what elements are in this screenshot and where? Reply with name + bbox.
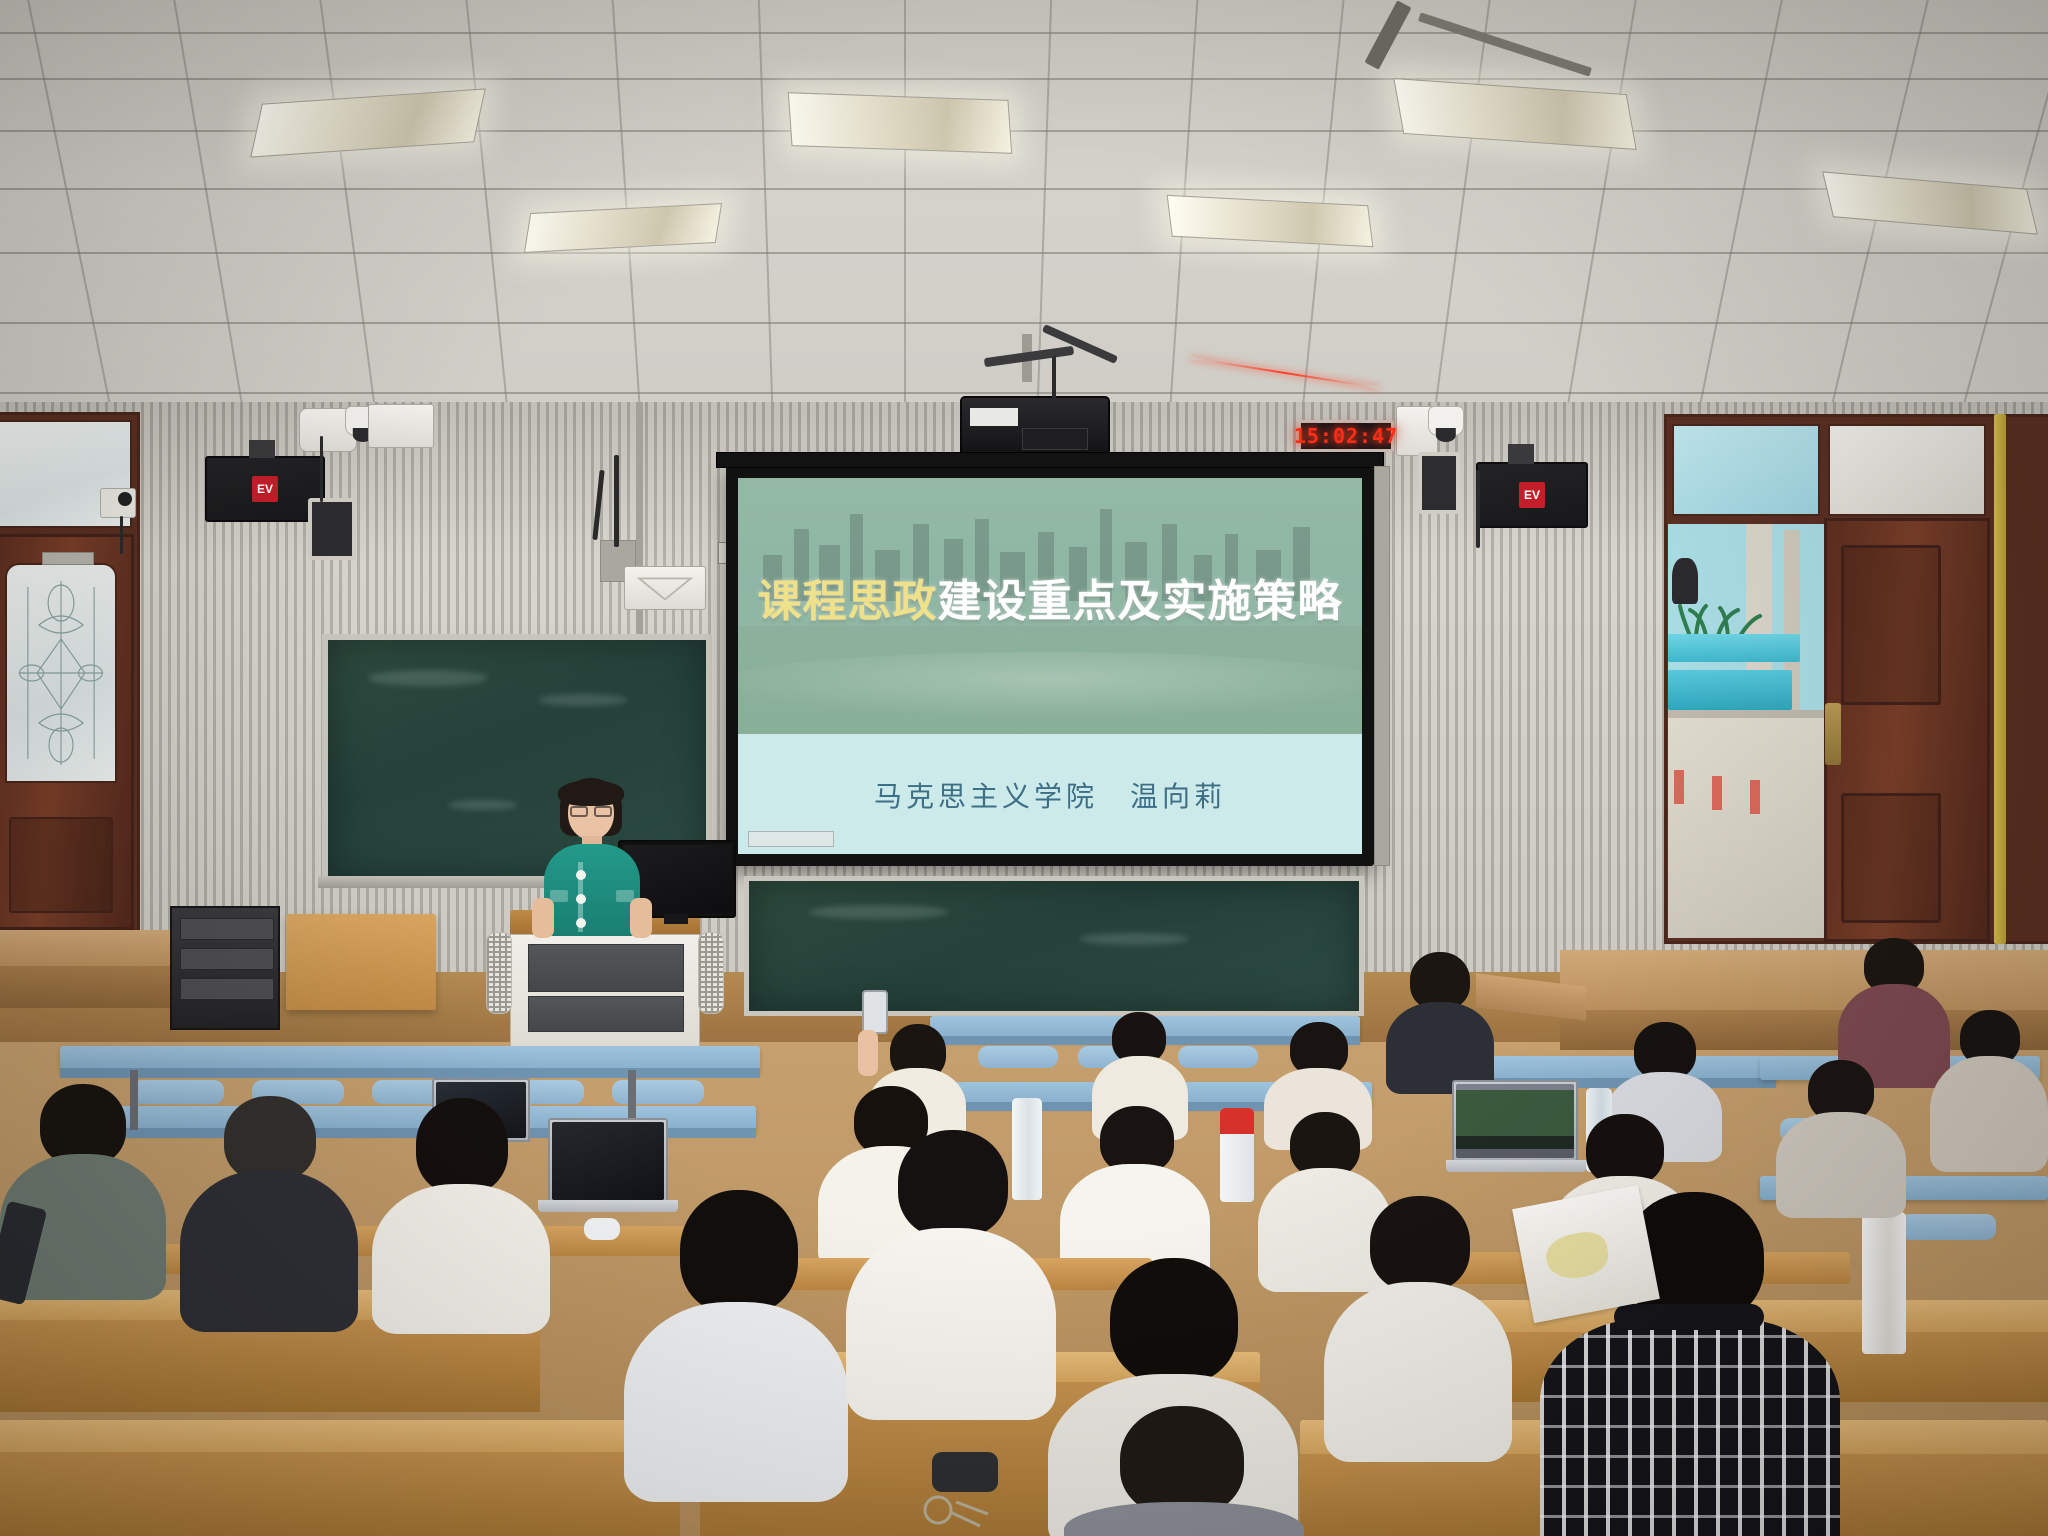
wooden-desk-front <box>0 1452 680 1536</box>
power-cable <box>614 455 619 547</box>
lectern-speaker-vent-left <box>486 932 512 1014</box>
equipment-rack <box>170 906 280 1030</box>
projector-label <box>970 408 1018 426</box>
screen-roller-housing <box>716 452 1384 468</box>
camera-cable <box>120 516 123 554</box>
presenter-button <box>576 870 586 880</box>
lectern-front-panel <box>528 944 684 992</box>
screen-side-rail <box>1374 466 1390 866</box>
attendee <box>1776 1060 1906 1210</box>
wall-notice-plate <box>368 404 434 448</box>
corridor-view <box>1668 524 1824 938</box>
ceiling-light-panel <box>788 92 1012 154</box>
clock-time: 15:02:47 <box>1294 424 1398 448</box>
wall-wifi-ap <box>624 566 706 610</box>
ptz-camera <box>100 488 136 518</box>
digital-wall-clock: 15:02:47 <box>1298 420 1394 452</box>
potted-plant <box>1676 598 1762 638</box>
speaker-bracket <box>249 440 275 458</box>
classroom-photo: EV EV 15:02:47 <box>0 0 2048 1536</box>
projector-ports <box>1022 428 1088 450</box>
blue-seat <box>1900 1214 1996 1240</box>
dome-camera-right <box>1428 406 1464 436</box>
slide-title: 课程思政建设重点及实施策略 <box>738 580 1362 624</box>
keyring <box>916 1492 1026 1536</box>
white-thermos <box>1862 1212 1906 1354</box>
door-glass-ornament-icon <box>15 573 107 773</box>
presenter-arm <box>532 898 554 938</box>
door-right-transom-right <box>1828 424 1986 516</box>
ceiling-projector <box>960 396 1110 458</box>
door-right-upper-panel <box>1841 545 1941 705</box>
slide-title-rest: 建设重点及实施策略 <box>938 576 1343 627</box>
slide-subtitle-band: 马克思主义学院 温向莉 <box>738 734 1362 854</box>
attendee-front <box>1064 1406 1304 1536</box>
gas-pipe <box>1994 414 2006 944</box>
door-handle-icon[interactable] <box>1825 703 1841 765</box>
side-table <box>286 914 436 1010</box>
presenter-pocket <box>550 890 568 902</box>
classroom-door-right[interactable] <box>1824 518 1990 942</box>
attendee-front <box>372 1098 550 1328</box>
beaded-collar <box>1614 1304 1764 1330</box>
presenter-glasses-icon <box>594 806 612 817</box>
slide-subtitle: 马克思主义学院 温向莉 <box>738 775 1362 815</box>
attendee-front <box>180 1096 358 1326</box>
red-thermos <box>1220 1108 1254 1202</box>
stage-face-left <box>0 966 190 1008</box>
handout-paper[interactable] <box>1512 1185 1660 1323</box>
stage-platform-left <box>0 930 176 970</box>
lectern-front-panel <box>528 996 684 1032</box>
key-fob[interactable] <box>932 1452 998 1492</box>
blue-seat <box>978 1046 1058 1068</box>
wall-speaker-left: EV <box>205 456 325 522</box>
speaker-cable <box>1476 470 1480 548</box>
slide-surface: 课程思政建设重点及实施策略 马克思主义学院 温向莉 <box>738 478 1362 854</box>
presenter <box>532 778 652 934</box>
wall-cable <box>320 436 323 502</box>
classroom-door-left[interactable] <box>0 534 134 930</box>
slide-taskbar-chip <box>748 831 834 847</box>
stage-platform-right <box>1560 950 2048 1016</box>
door-left-glass-panel <box>5 563 117 783</box>
projector-cable <box>1052 356 1056 400</box>
attendee-front <box>1324 1196 1512 1456</box>
raised-arm <box>858 1030 878 1076</box>
center-chalkboard <box>744 876 1364 1016</box>
wall-speaker-grille <box>308 498 356 560</box>
presenter-button <box>576 894 586 904</box>
attendee-front <box>0 1084 166 1294</box>
speaker-brand-logo: EV <box>252 476 278 502</box>
presenter-arm <box>630 898 652 938</box>
speaker-brand-logo: EV <box>1519 482 1545 508</box>
lectern-speaker-vent-right <box>698 932 724 1014</box>
attendee <box>1930 1010 2048 1170</box>
attendee <box>1386 952 1494 1088</box>
door-left-lower-panel <box>9 817 113 913</box>
computer-mouse[interactable] <box>584 1218 620 1240</box>
attendee-front <box>624 1190 848 1490</box>
presenter-button <box>576 918 586 928</box>
blue-seat <box>1178 1046 1258 1068</box>
door-right-transom-left <box>1672 424 1820 516</box>
monitor-stand <box>664 914 688 924</box>
patterned-blouse <box>1540 1318 1840 1536</box>
door-right-lower-panel <box>1841 793 1941 923</box>
wall-speaker-right: EV <box>1476 462 1588 528</box>
smartphone[interactable] <box>862 990 888 1034</box>
presenter-glasses-icon <box>570 806 588 817</box>
door-closer <box>42 552 94 565</box>
slide-photo-band: 课程思政建设重点及实施策略 <box>738 478 1362 734</box>
speaker-bracket <box>1508 444 1534 464</box>
attendee-front <box>846 1130 1056 1410</box>
slide-title-highlight: 课程思政 <box>758 576 938 627</box>
wall-speaker-grille-right <box>1418 452 1460 514</box>
projection-screen: 课程思政建设重点及实施策略 马克思主义学院 温向莉 <box>726 466 1374 866</box>
blue-seat <box>612 1080 704 1104</box>
